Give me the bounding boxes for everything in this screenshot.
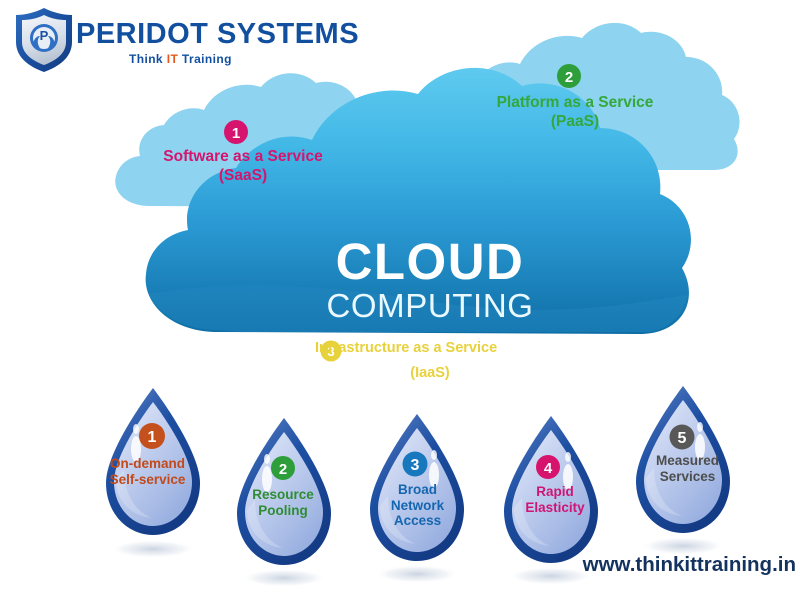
brand-tagline: Think IT Training — [129, 52, 232, 66]
saas-line1: Software as a Service — [118, 148, 368, 167]
saas-line2: (SaaS) — [118, 167, 368, 186]
paas-label: Platform as a Service (PaaS) — [450, 94, 700, 132]
droplet-3-line2: Network — [355, 498, 480, 514]
droplet-2-line1: Resource — [218, 487, 348, 503]
droplet-1-label: On-demand Self-service — [80, 456, 215, 487]
title-computing: COMPUTING — [280, 288, 580, 324]
page-title: CLOUD COMPUTING — [280, 238, 580, 324]
saas-label: Software as a Service (SaaS) — [118, 148, 368, 186]
infographic-canvas: P 1 2 3 1 2 3 4 5 PERIDOT SYSTEMS Think … — [0, 0, 800, 600]
svg-text:4: 4 — [544, 460, 553, 477]
droplet-5-label: Measured Services — [620, 453, 755, 484]
website-url[interactable]: www.thinkittraining.in — [560, 553, 796, 577]
droplet-5-line1: Measured — [620, 453, 755, 469]
brand-name: PERIDOT SYSTEMS — [76, 18, 359, 51]
tagline-post: Training — [178, 52, 232, 66]
droplet-3-label: Broad Network Access — [355, 482, 480, 529]
droplet-1-line2: Self-service — [80, 472, 215, 488]
tagline-accent: IT — [167, 52, 178, 66]
droplet-4-line1: Rapid — [490, 484, 620, 500]
iaas-line1: Infrastructure as a Service — [315, 340, 575, 358]
title-cloud: CLOUD — [280, 238, 580, 287]
droplet-1-line1: On-demand — [80, 456, 215, 472]
droplet-2-line2: Pooling — [218, 503, 348, 519]
svg-text:2: 2 — [565, 69, 573, 86]
droplet-3-line1: Broad — [355, 482, 480, 498]
droplet-4-label: Rapid Elasticity — [490, 484, 620, 515]
brand-logo-block: PERIDOT SYSTEMS Think IT Training — [14, 6, 344, 76]
svg-text:5: 5 — [678, 430, 687, 447]
droplet-3-line3: Access — [355, 513, 480, 529]
iaas-line2: (IaaS) — [340, 365, 520, 383]
droplet-2-label: Resource Pooling — [218, 487, 348, 518]
svg-text:3: 3 — [411, 457, 420, 474]
droplet-5-line2: Services — [620, 469, 755, 485]
svg-text:2: 2 — [279, 461, 287, 478]
svg-text:1: 1 — [232, 125, 240, 142]
droplet-4-line2: Elasticity — [490, 500, 620, 516]
paas-line1: Platform as a Service — [450, 94, 700, 113]
paas-line2: (PaaS) — [450, 113, 700, 132]
tagline-pre: Think — [129, 52, 167, 66]
svg-text:1: 1 — [148, 429, 157, 446]
